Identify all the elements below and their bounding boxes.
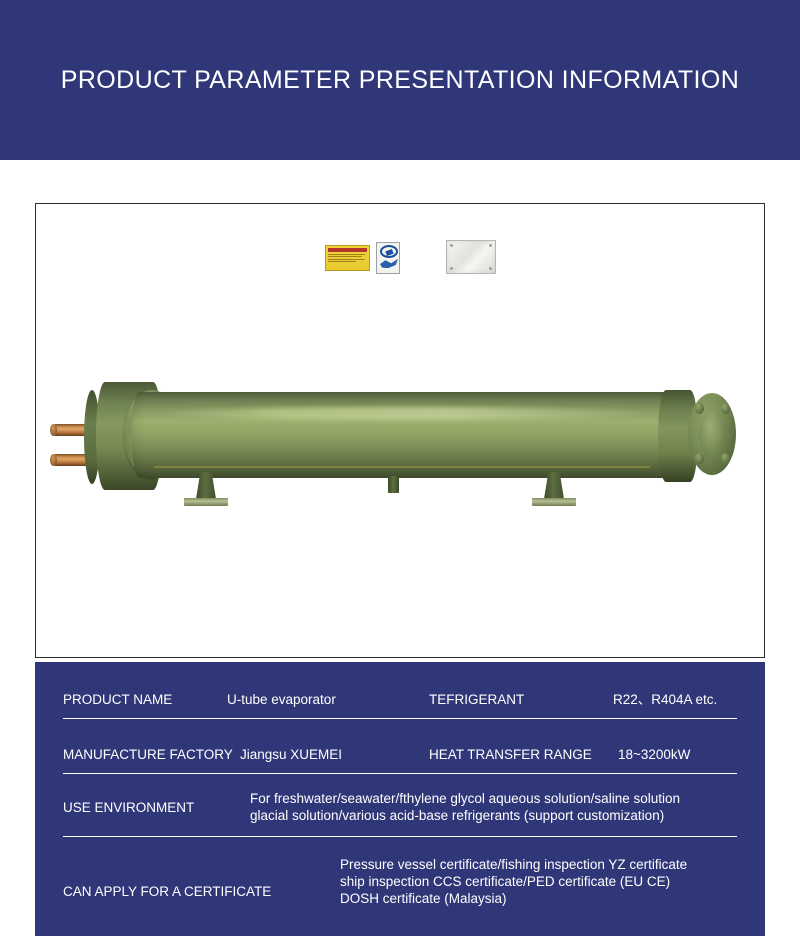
spec-row-divider <box>63 773 737 774</box>
product-image-panel <box>35 203 765 658</box>
support-saddle-left <box>184 472 228 506</box>
spec-row-divider <box>63 718 737 719</box>
spec-label-heat-transfer-range: HEAT TRANSFER RANGE <box>429 746 592 763</box>
specification-table: PRODUCT NAME U-tube evaporator TEFRIGERA… <box>35 662 765 936</box>
spec-value-heat-transfer-range: 18~3200kW <box>618 746 690 763</box>
spec-value-refrigerant: R22、R404A etc. <box>613 691 717 708</box>
copper-tube-upper-cap <box>50 424 57 436</box>
drain-nozzle <box>388 476 399 493</box>
spec-label-refrigerant: TEFRIGERANT <box>429 691 524 708</box>
spec-value-use-environment: For freshwater/seawater/fthylene glycol … <box>250 790 750 824</box>
spec-value-manufacture-factory: Jiangsu XUEMEI <box>240 746 342 763</box>
warning-sticker-line <box>328 256 362 257</box>
product-photo <box>36 204 764 657</box>
spec-value-line: DOSH certificate (Malaysia) <box>340 890 770 907</box>
nameplate <box>446 240 496 274</box>
spec-label-product-name: PRODUCT NAME <box>63 691 172 708</box>
spec-value-certificate: Pressure vessel certificate/fishing insp… <box>340 856 770 907</box>
nameplate-screw <box>489 244 492 247</box>
spec-label-certificate: CAN APPLY FOR A CERTIFICATE <box>63 883 271 900</box>
saddle-base <box>532 498 576 506</box>
vessel-shell <box>132 392 672 478</box>
saddle-base <box>184 498 228 506</box>
certification-sticker <box>376 242 400 274</box>
spec-value-line: For freshwater/seawater/fthylene glycol … <box>250 790 750 807</box>
shell-highlight <box>159 407 645 420</box>
certification-badge-icon <box>380 245 398 258</box>
warning-sticker-line <box>328 259 365 260</box>
spec-row-divider <box>63 836 737 837</box>
right-flange <box>688 393 736 475</box>
saddle-web <box>544 472 564 499</box>
nameplate-screw <box>489 267 492 270</box>
flange-bolt <box>721 453 730 464</box>
nameplate-screw <box>450 244 453 247</box>
flange-bolt <box>695 403 704 414</box>
flange-bolt <box>721 403 730 414</box>
spec-value-line: glacial solution/various acid-base refri… <box>250 807 750 824</box>
page-title: PRODUCT PARAMETER PRESENTATION INFORMATI… <box>61 66 739 95</box>
flange-bolt <box>695 453 704 464</box>
warning-sticker-line <box>328 261 356 262</box>
page-header: PRODUCT PARAMETER PRESENTATION INFORMATI… <box>0 0 800 160</box>
spec-value-line: Pressure vessel certificate/fishing insp… <box>340 856 770 873</box>
warning-sticker-title <box>328 248 367 252</box>
support-saddle-right <box>532 472 576 506</box>
spec-label-manufacture-factory: MANUFACTURE FACTORY <box>63 746 233 763</box>
warning-sticker-line <box>328 254 365 255</box>
spec-value-line: ship inspection CCS certificate/PED cert… <box>340 873 770 890</box>
copper-tube-lower-cap <box>50 454 57 466</box>
nameplate-screw <box>450 267 453 270</box>
certification-emblem-icon <box>380 258 398 269</box>
spec-value-product-name: U-tube evaporator <box>227 691 336 708</box>
shell-seam <box>154 466 651 468</box>
warning-sticker <box>325 245 370 271</box>
spec-label-use-environment: USE ENVIRONMENT <box>63 799 194 816</box>
saddle-web <box>196 472 216 499</box>
right-flange-inner <box>699 410 726 458</box>
